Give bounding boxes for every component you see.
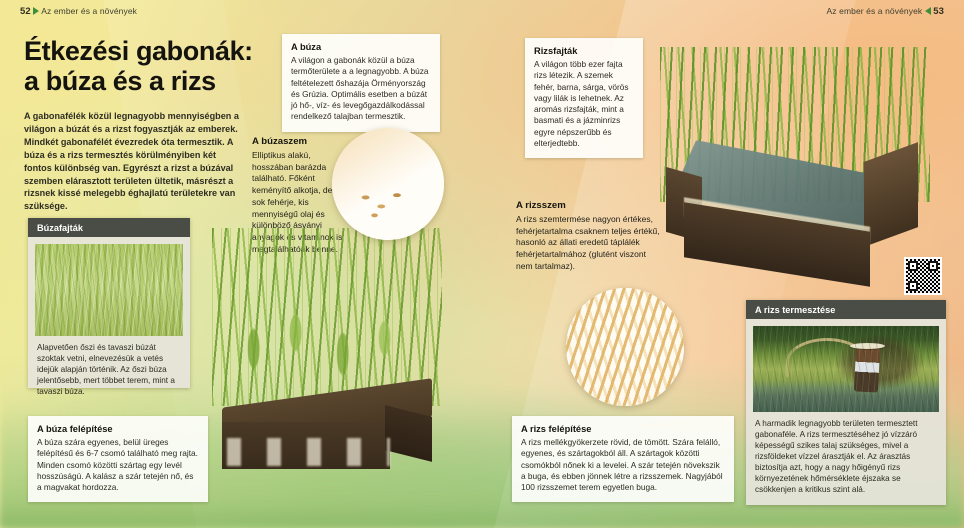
running-head-left: 52 Az ember és a növények	[20, 6, 137, 17]
running-head-right-label: Az ember és a növények	[827, 6, 923, 16]
conical-hat-shape	[850, 343, 885, 349]
lead-paragraph: A gabonafélék közül legnagyobb mennyiség…	[24, 110, 246, 213]
qr-finder-bottom-left	[908, 281, 918, 291]
text-a-buzaszem-title: A búzaszem	[252, 136, 344, 147]
card-a-rizs-felepitese-text: A rizs mellékgyökerzete rövid, de tömött…	[521, 437, 725, 493]
figure-panel-buzafajtak-caption: Alapvetően őszi és tavaszi búzát szoktak…	[28, 343, 190, 406]
wheat-roots-shape	[227, 438, 389, 467]
rice-paddy-cross-section-illustration	[648, 42, 948, 292]
card-rizsfajtak-text: A világon több ezer fajta rizs létezik. …	[534, 59, 634, 149]
page-title: Étkezési gabonák: a búza és a rizs	[24, 36, 294, 96]
qr-code[interactable]	[904, 257, 942, 295]
card-a-buza-felepitese-title: A búza felépítése	[37, 424, 199, 434]
figure-panel-buzafajtak: Búzafajták Alapvetően őszi és tavaszi bú…	[28, 218, 190, 388]
card-a-buza-text: A világon a gabonák közül a búza termőte…	[291, 55, 431, 123]
figure-panel-rizs-termesztese-title: A rizs termesztése	[746, 300, 946, 319]
card-a-rizs-felepitese: A rizs felépítése A rizs mellékgyökerzet…	[512, 416, 734, 502]
qr-finder-top-left	[908, 261, 918, 271]
arrow-right-icon	[33, 7, 39, 15]
text-a-rizsszem-body: A rizs szemtermése nagyon értékes, fehér…	[516, 214, 664, 273]
green-wheat-field-photo	[35, 244, 183, 336]
rice-paddy-farmer-photo	[753, 326, 939, 412]
qr-finder-top-right	[928, 261, 938, 271]
arrow-left-icon	[925, 7, 931, 15]
card-a-buza-title: A búza	[291, 42, 431, 52]
farmer-figure	[854, 346, 880, 392]
running-head-left-label: Az ember és a növények	[41, 6, 137, 16]
rice-panicle-circular-photo	[566, 288, 684, 406]
wheat-soil-cross-section-illustration	[196, 228, 458, 490]
figure-panel-buzafajtak-title: Búzafajták	[28, 218, 190, 237]
text-a-rizsszem: A rizsszem A rizs szemtermése nagyon ért…	[516, 200, 664, 273]
card-a-buza: A búza A világon a gabonák közül a búza …	[282, 34, 440, 132]
textbook-page-spread: 52 Az ember és a növények Az ember és a …	[0, 0, 964, 528]
wheat-ears-and-grains-circular-photo	[332, 128, 444, 240]
card-a-buza-felepitese-text: A búza szára egyenes, belül üreges felép…	[37, 437, 199, 493]
folio-right: 53	[933, 6, 944, 17]
paddy-right-wall	[864, 142, 918, 247]
figure-panel-rizs-termesztese: A rizs termesztése A harmadik legnagyobb…	[746, 300, 946, 505]
running-head-right: Az ember és a növények 53	[827, 6, 944, 17]
text-a-rizsszem-title: A rizsszem	[516, 200, 664, 211]
figure-panel-rizs-termesztese-caption: A harmadik legnagyobb területen termeszt…	[746, 419, 946, 504]
card-rizsfajtak: Rizsfajták A világon több ezer fajta riz…	[525, 38, 643, 158]
card-rizsfajtak-title: Rizsfajták	[534, 46, 634, 56]
fishing-net-shape	[786, 338, 868, 379]
wheat-grains-shape	[332, 128, 444, 240]
card-a-rizs-felepitese-title: A rizs felépítése	[521, 424, 725, 434]
card-a-buza-felepitese: A búza felépítése A búza szára egyenes, …	[28, 416, 208, 502]
rice-panicle-shape	[566, 288, 684, 406]
folio-left: 52	[20, 6, 31, 17]
